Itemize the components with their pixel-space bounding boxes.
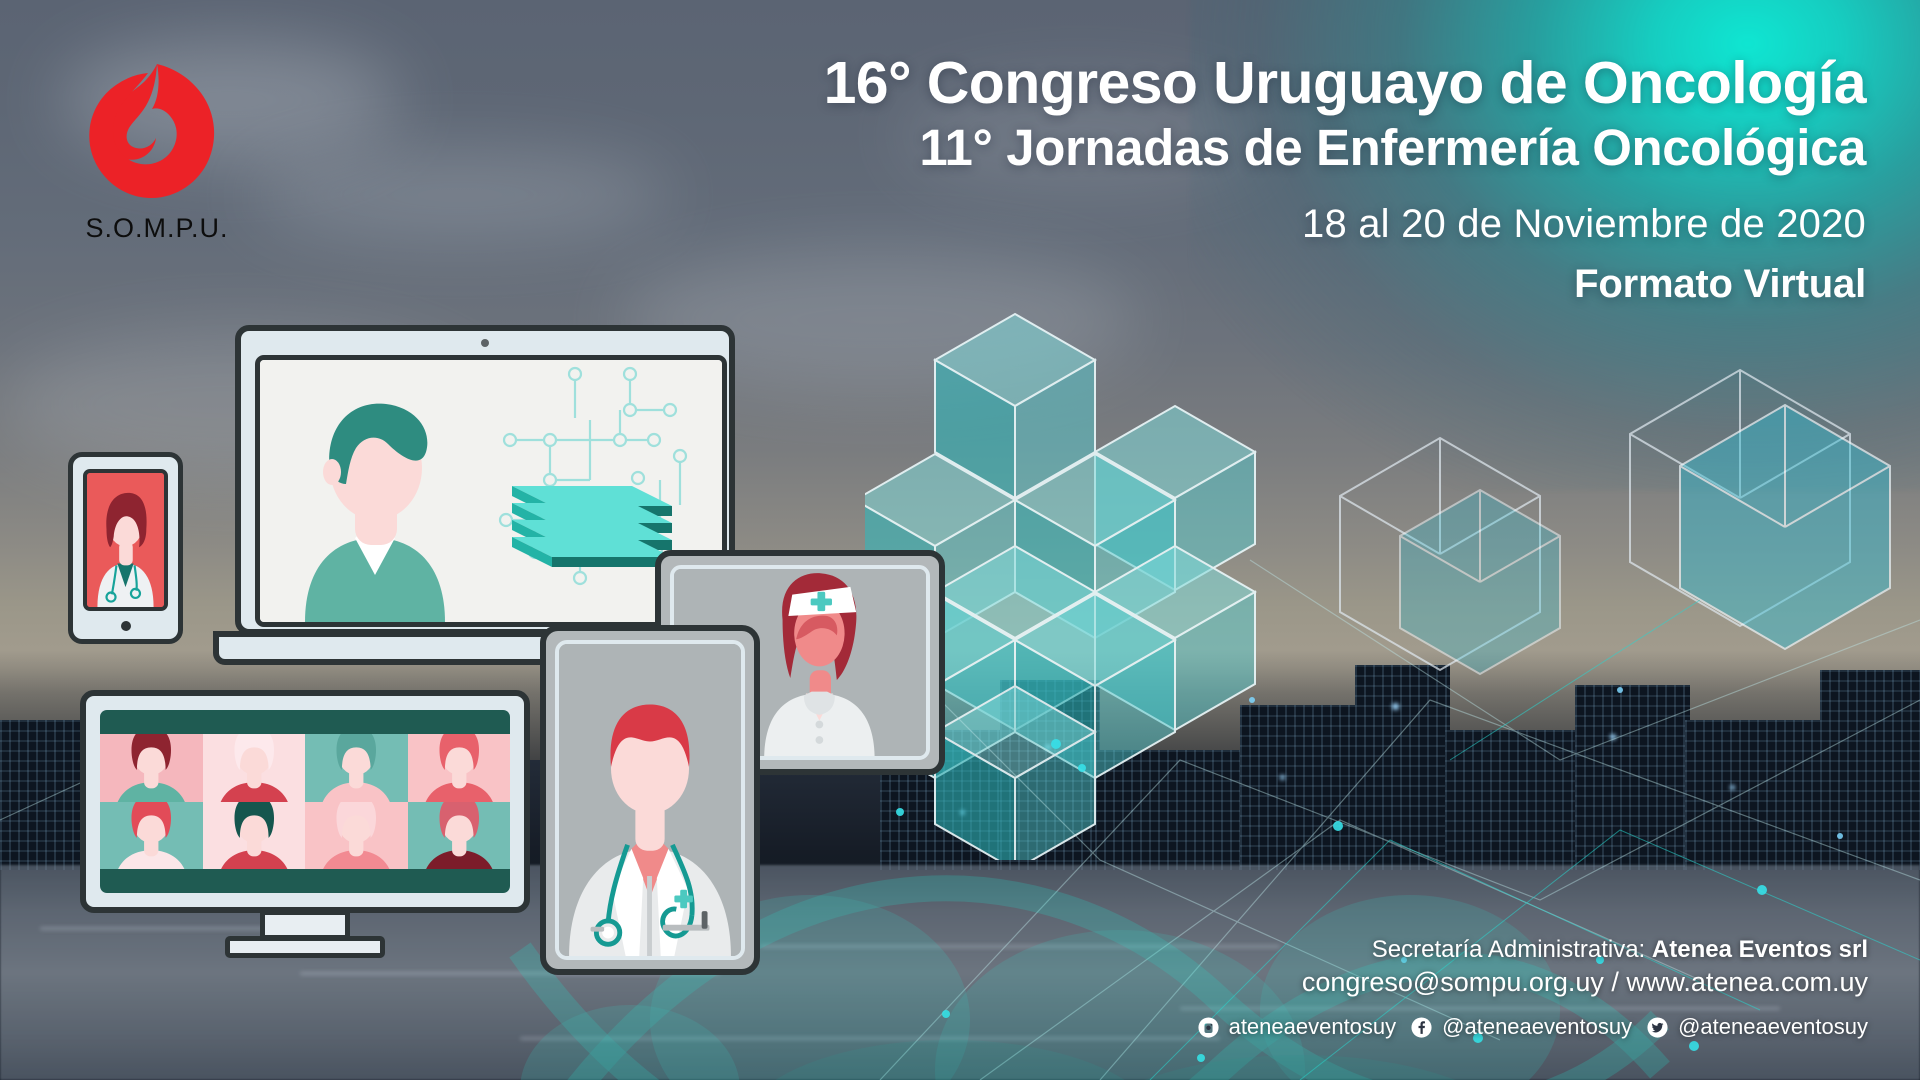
sompu-mark-icon (82, 62, 232, 207)
twitter-icon[interactable] (1646, 1016, 1669, 1039)
video-tile (408, 802, 511, 870)
video-tile (305, 734, 408, 802)
sompu-logo: S.O.M.P.U. (62, 62, 252, 292)
monitor-video-call-grid (80, 690, 530, 950)
congress-title-line1: 16° Congreso Uruguayo de Oncología (546, 52, 1866, 116)
sompu-logo-text: S.O.M.P.U. (62, 213, 252, 244)
tablet-screen (555, 640, 745, 960)
facebook-icon[interactable] (1410, 1016, 1433, 1039)
secretariat-prefix: Secretaría Administrativa: (1372, 936, 1652, 963)
phone-screen (83, 469, 168, 611)
congress-format: Formato Virtual (546, 262, 1866, 306)
video-tile (100, 802, 203, 870)
social-links: ateneaeventosuy@ateneaeventosuy@ateneaev… (1248, 1014, 1868, 1040)
stacked-plates-graphic (512, 486, 672, 567)
title-block: 16° Congreso Uruguayo de Oncología 11° J… (546, 52, 1866, 306)
phone-body (68, 452, 183, 644)
congress-poster: S.O.M.P.U. 16° Congreso Uruguayo de Onco… (0, 0, 1920, 1080)
congress-title-line2: 11° Jornadas de Enfermería Oncológica (546, 120, 1866, 176)
video-tile (100, 734, 203, 802)
contact-line[interactable]: congreso@sompu.org.uy / www.atenea.com.u… (1248, 966, 1868, 1000)
social-link[interactable]: @ateneaeventosuy (1646, 1014, 1868, 1040)
video-tile (203, 802, 306, 870)
social-link[interactable]: ateneaeventosuy (1197, 1014, 1397, 1040)
congress-date: 18 al 20 de Noviembre de 2020 (546, 202, 1866, 246)
monitor-stand-foot (225, 936, 385, 958)
phone-female-doctor (68, 452, 183, 644)
social-handle: @ateneaeventosuy (1678, 1014, 1868, 1040)
video-tile (203, 734, 306, 802)
secretariat-name: Atenea Eventos srl (1652, 936, 1868, 963)
tablet-doctor (540, 625, 760, 975)
webcam-icon (481, 339, 489, 347)
video-grid (100, 734, 510, 869)
monitor-body (80, 690, 530, 913)
instagram-icon[interactable] (1197, 1016, 1220, 1039)
home-button-icon (121, 621, 131, 631)
social-link[interactable]: @ateneaeventosuy (1410, 1014, 1632, 1040)
video-tile (408, 734, 511, 802)
tablet-body (540, 625, 760, 975)
footer-contact-block: Secretaría Administrativa: Atenea Evento… (1248, 935, 1868, 1040)
secretariat-line: Secretaría Administrativa: Atenea Evento… (1248, 935, 1868, 966)
monitor-screen (100, 710, 510, 893)
social-handle: @ateneaeventosuy (1442, 1014, 1632, 1040)
hexagon-wireframe-cubes (1620, 360, 1920, 790)
social-handle: ateneaeventosuy (1229, 1014, 1397, 1040)
video-tile (305, 802, 408, 870)
